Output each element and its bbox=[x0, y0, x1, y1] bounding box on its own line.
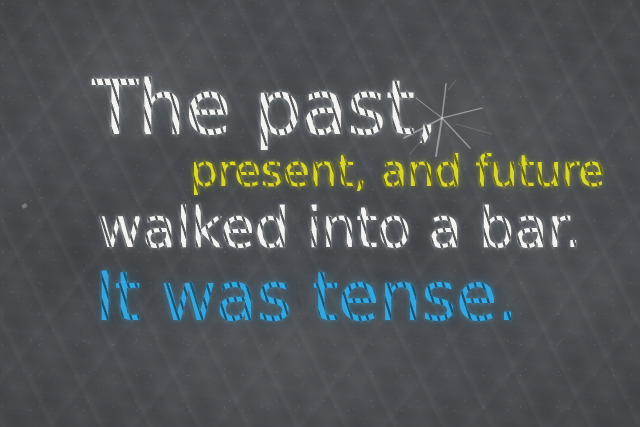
joke-line-1-text: The past, bbox=[92, 70, 438, 146]
joke-line-1: The past, bbox=[92, 70, 438, 146]
joke-text-block: The past, present, and future walked int… bbox=[0, 0, 640, 427]
chalkboard-canvas: The past, present, and future walked int… bbox=[0, 0, 640, 427]
joke-line-3-text: walked into a bar. bbox=[97, 201, 582, 257]
joke-line-2: present, and future bbox=[190, 150, 605, 194]
joke-line-4: It was tense. bbox=[95, 264, 518, 332]
joke-line-3: walked into a bar. bbox=[97, 201, 582, 257]
joke-line-2-text: present, and future bbox=[190, 150, 605, 194]
joke-line-4-text: It was tense. bbox=[95, 264, 518, 332]
